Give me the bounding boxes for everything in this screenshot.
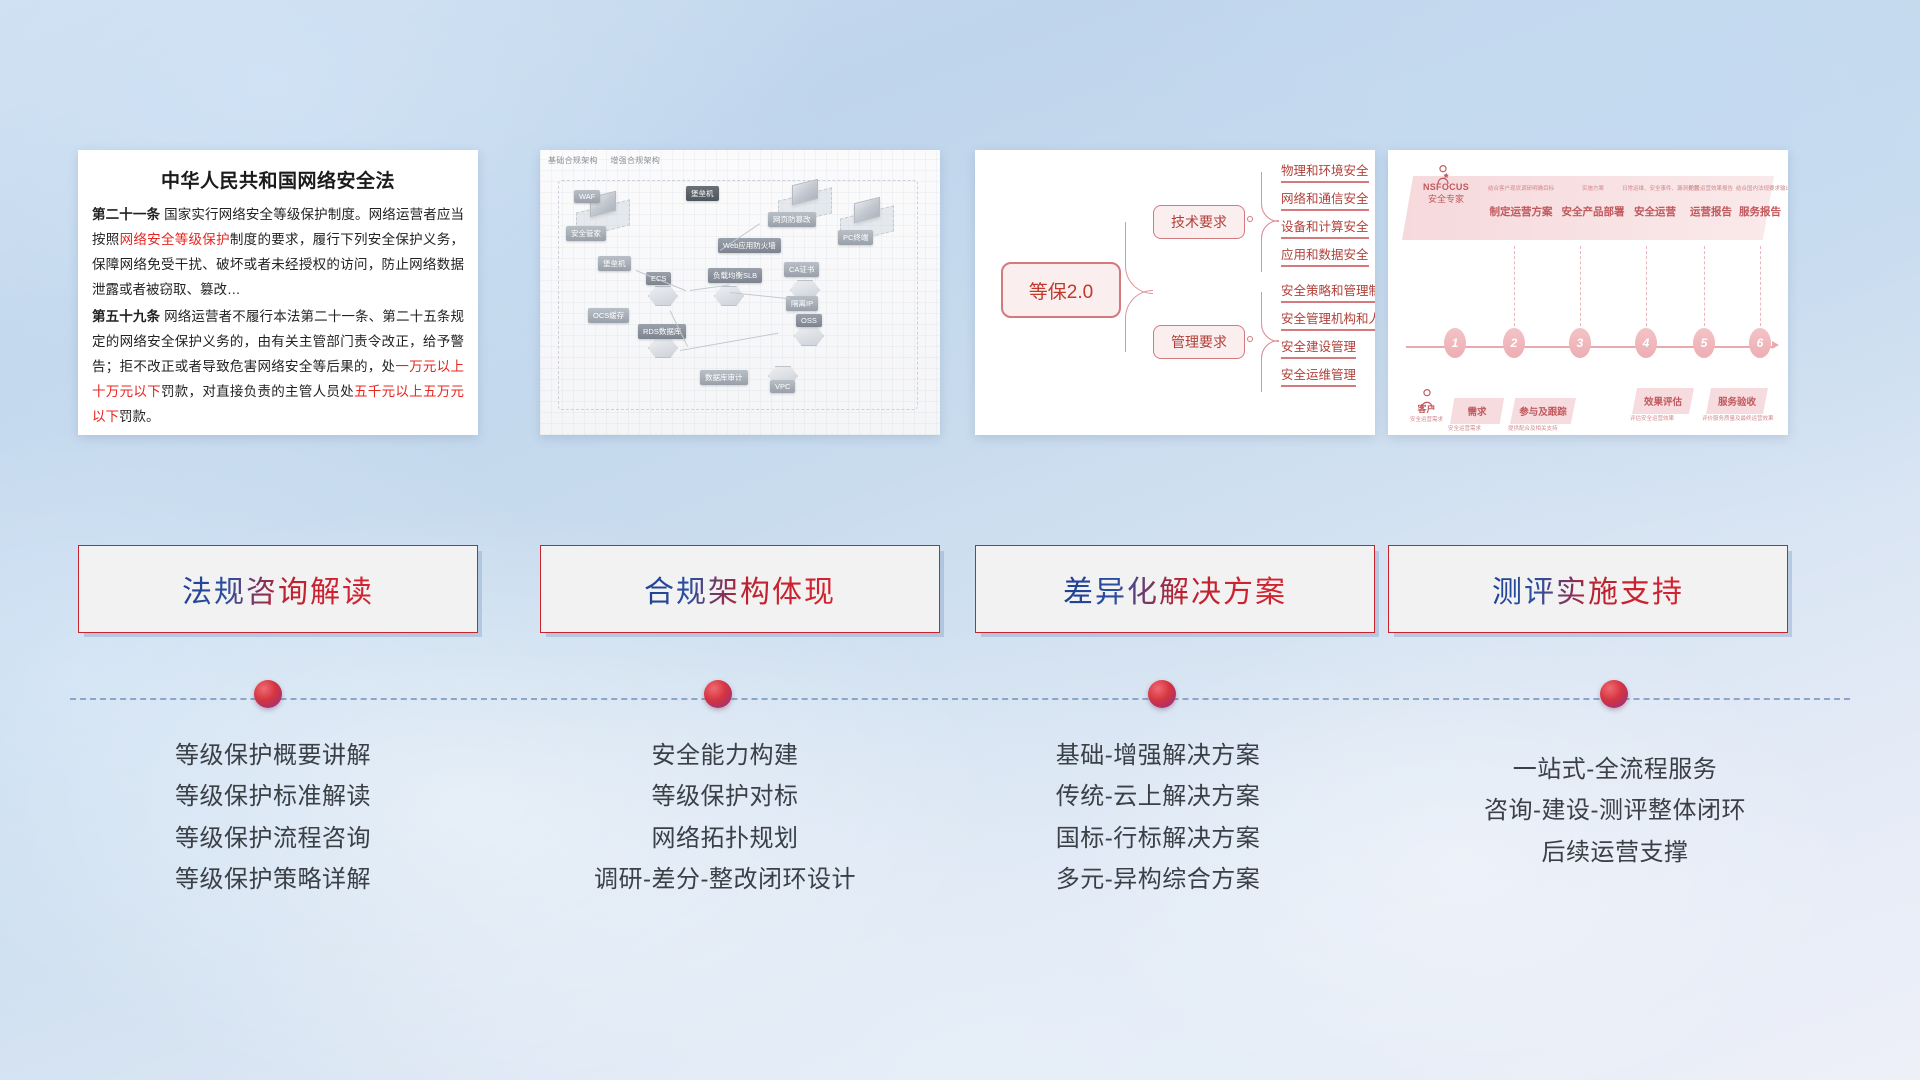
- mindmap-root-node: 等保2.0: [1001, 262, 1121, 318]
- arch-node-bastion-top: 堡垒机: [686, 186, 719, 201]
- arch-node-ca-certificate: CA证书: [784, 262, 819, 277]
- nsfocus-step-sub-2: 结合客户现状调研明确目标: [1484, 184, 1558, 192]
- law-article-59: 第五十九条 网络运营者不履行本法第二十一条、第二十五条规定的网络安全保护义务的，…: [92, 305, 464, 430]
- arch-node-security-manager: 安全管家: [566, 226, 606, 241]
- nsfocus-customer-title: 客户: [1410, 402, 1443, 415]
- nsfocus-step-bubble-2: 2: [1503, 328, 1525, 358]
- section-title-3: 差异化解决方案: [1063, 567, 1287, 611]
- nsfocus-brand-line1: NSFOCUS: [1414, 182, 1478, 192]
- section-title-box-1[interactable]: 法规咨询解读: [78, 545, 478, 633]
- nsfocus-dash-5: [1704, 246, 1705, 326]
- article-59-text-c: 罚款。: [119, 409, 160, 424]
- list-item: 国标-行标解决方案: [938, 818, 1378, 859]
- nsfocus-canvas: NSFOCUS 安全专家 结合客户现状调研明确目标 制定运营方案 实施方案 安全…: [1388, 150, 1788, 435]
- mindmap-leaf-tech-1: 物理和环境安全: [1281, 160, 1369, 183]
- nsfocus-step-sub-6: 结合国内法规要求输出整体运营效果: [1736, 184, 1784, 192]
- mindmap-leaf-mgmt-4: 安全运维管理: [1281, 364, 1356, 387]
- nsfocus-step-sub-5: 阶段运营效果报告: [1684, 184, 1738, 192]
- law-card-title: 中华人民共和国网络安全法: [92, 166, 464, 193]
- list-item: 等级保护策略详解: [53, 859, 493, 900]
- mindmap-leaf-mgmt-3: 安全建设管理: [1281, 336, 1356, 359]
- nsfocus-timeline-card: NSFOCUS 安全专家 结合客户现状调研明确目标 制定运营方案 实施方案 安全…: [1388, 150, 1788, 435]
- nsfocus-bottom-tag-sub-1: 安全运营需求: [1448, 424, 1481, 432]
- nsfocus-bottom-tag-sub-2: 提供配合及相关支持: [1508, 424, 1558, 432]
- article-59-text-b: 罚款，对直接负责的主管人员处: [161, 384, 354, 399]
- nsfocus-bottom-tag-4: 服务验收: [1706, 388, 1768, 414]
- law-card-body: 中华人民共和国网络安全法 第二十一条 国家实行网络安全等级保护制度。网络运营者应…: [78, 150, 478, 435]
- section-title-1: 法规咨询解读: [182, 567, 374, 611]
- nsfocus-customer-label: 客户 安全运营需求: [1410, 402, 1443, 423]
- arch-node-ocs-cache: OCS缓存: [588, 308, 629, 323]
- list-item: 网络拓扑规划: [505, 818, 945, 859]
- nsfocus-dash-2: [1514, 246, 1515, 326]
- list-item: 基础-增强解决方案: [938, 735, 1378, 776]
- nsfocus-step-bubble-5: 5: [1693, 328, 1715, 358]
- article-21-highlight: 网络安全等级保护: [120, 232, 230, 247]
- section-list-2: 安全能力构建 等级保护对标 网络拓扑规划 调研-差分-整改闭环设计: [505, 735, 945, 900]
- poster-canvas: 中华人民共和国网络安全法 第二十一条 国家实行网络安全等级保护制度。网络运营者应…: [0, 0, 1920, 1080]
- section-title-box-2[interactable]: 合规架构体现: [540, 545, 940, 633]
- arch-node-db-audit: 数据库审计: [700, 370, 748, 385]
- mindmap-collapse-dot-mgmt[interactable]: [1247, 336, 1253, 342]
- nsfocus-brand: NSFOCUS 安全专家: [1414, 182, 1478, 205]
- architecture-canvas: 基础合规架构 增强合规架构 堡垒机 网页防篡改 PC终端 WAF 安全管家: [540, 150, 940, 435]
- timeline-marker-3[interactable]: [1148, 680, 1176, 708]
- mindmap-collapse-dot-tech[interactable]: [1247, 216, 1253, 222]
- article-59-label: 第五十九条: [92, 309, 160, 324]
- mindmap-leaf-tech-3: 设备和计算安全: [1281, 216, 1369, 239]
- section-list-3: 基础-增强解决方案 传统-云上解决方案 国标-行标解决方案 多元-异构综合方案: [938, 735, 1378, 900]
- mindmap-branch-mgmt: 管理要求: [1153, 325, 1245, 359]
- law-article-21: 第二十一条 国家实行网络安全等级保护制度。网络运营者应当按照网络安全等级保护制度…: [92, 203, 464, 303]
- section-title-4: 测评实施支持: [1492, 567, 1684, 611]
- list-item: 等级保护标准解读: [53, 776, 493, 817]
- nsfocus-step-label-2: 结合客户现状调研明确目标 制定运营方案: [1484, 184, 1558, 219]
- nsfocus-bottom-tag-3: 效果评估: [1632, 388, 1694, 414]
- nsfocus-dash-4: [1646, 246, 1647, 326]
- nsfocus-step-sub-3: 实施方案: [1558, 184, 1628, 192]
- article-21-label: 第二十一条: [92, 207, 160, 222]
- arch-node-oss: OSS: [796, 314, 822, 327]
- list-item: 安全能力构建: [505, 735, 945, 776]
- mindmap-curve-tech-2: [1261, 200, 1279, 222]
- mindmap-card: 等保2.0 技术要求 物理和环境安全 网络和通信安全 设备和计算安全 应用和数据…: [975, 150, 1375, 435]
- arch-node-isolated-ip: 隔离IP: [786, 296, 818, 311]
- nsfocus-customer-sub: 安全运营需求: [1410, 415, 1443, 423]
- mindmap-curve-to-mgmt: [1125, 290, 1153, 352]
- nsfocus-step-label-4: 日常运维、安全事件、漏洞处置 安全运营: [1622, 184, 1688, 219]
- nsfocus-step-bubble-3: 3: [1569, 328, 1591, 358]
- nsfocus-step-label-3: 实施方案 安全产品部署: [1558, 184, 1628, 219]
- image-card-row: 中华人民共和国网络安全法 第二十一条 国家实行网络安全等级保护制度。网络运营者应…: [0, 150, 1920, 440]
- arch-node-bastion-left: 堡垒机: [598, 256, 631, 271]
- mindmap-canvas: 等保2.0 技术要求 物理和环境安全 网络和通信安全 设备和计算安全 应用和数据…: [975, 150, 1375, 435]
- mindmap-leaf-mgmt-1: 安全策略和管理制度: [1281, 280, 1375, 303]
- section-list-4: 一站式-全流程服务 咨询-建设-测评整体闭环 后续运营支撑: [1395, 735, 1835, 873]
- arch-node-waf: WAF: [574, 190, 600, 203]
- section-title-box-3[interactable]: 差异化解决方案: [975, 545, 1375, 633]
- list-item: 传统-云上解决方案: [938, 776, 1378, 817]
- nsfocus-bottom-tag-1: 需求: [1450, 398, 1504, 424]
- list-item: 咨询-建设-测评整体闭环: [1395, 790, 1835, 831]
- architecture-tabs: 基础合规架构 增强合规架构: [548, 155, 670, 166]
- arch-node-pc-terminal: PC终端: [838, 230, 873, 245]
- mindmap-leaf-tech-2: 网络和通信安全: [1281, 188, 1369, 211]
- section-item-lists: 等级保护概要讲解 等级保护标准解读 等级保护流程咨询 等级保护策略详解 安全能力…: [0, 735, 1920, 1035]
- list-item: 一站式-全流程服务: [1395, 749, 1835, 790]
- mindmap-curve-to-tech: [1125, 222, 1153, 294]
- mindmap-branch-tech: 技术要求: [1153, 205, 1245, 239]
- nsfocus-step-sub-4: 日常运维、安全事件、漏洞处置: [1622, 184, 1688, 192]
- nsfocus-dash-3: [1580, 246, 1581, 326]
- nsfocus-dash-6: [1760, 246, 1761, 326]
- mindmap-curve-mgmt-4: [1261, 340, 1279, 392]
- timeline-dashed-line: [70, 698, 1850, 700]
- timeline-marker-2[interactable]: [704, 680, 732, 708]
- arch-node-tamperproof: 网页防篡改: [768, 212, 816, 227]
- list-item: 后续运营支撑: [1395, 832, 1835, 873]
- nsfocus-step-bubble-4: 4: [1635, 328, 1657, 358]
- timeline-marker-1[interactable]: [254, 680, 282, 708]
- list-item: 等级保护对标: [505, 776, 945, 817]
- section-list-1: 等级保护概要讲解 等级保护标准解读 等级保护流程咨询 等级保护策略详解: [53, 735, 493, 900]
- tab-enhanced-architecture: 增强合规架构: [610, 156, 660, 165]
- nsfocus-brand-line2: 安全专家: [1414, 192, 1478, 205]
- nsfocus-step-title-2: 制定运营方案: [1484, 204, 1558, 219]
- tab-basic-architecture: 基础合规架构: [548, 156, 598, 165]
- nsfocus-bottom-tag-sub-3: 评估安全运营效果: [1630, 414, 1674, 422]
- nsfocus-step-title-3: 安全产品部署: [1558, 204, 1628, 219]
- section-title-row: 法规咨询解读 合规架构体现 差异化解决方案 测评实施支持: [0, 545, 1920, 637]
- nsfocus-timeline-arrow: [1772, 341, 1779, 349]
- timeline-marker-4[interactable]: [1600, 680, 1628, 708]
- list-item: 等级保护概要讲解: [53, 735, 493, 776]
- section-title-2: 合规架构体现: [644, 567, 836, 611]
- mindmap-leaf-tech-4: 应用和数据安全: [1281, 244, 1369, 267]
- mindmap-curve-tech-4: [1261, 220, 1279, 272]
- section-title-box-4[interactable]: 测评实施支持: [1388, 545, 1788, 633]
- nsfocus-step-title-5: 运营报告: [1684, 204, 1738, 219]
- nsfocus-bottom-tag-sub-4: 评价服务质量及最终运营效果: [1702, 414, 1774, 422]
- nsfocus-bottom-tag-2: 参与及跟踪: [1510, 398, 1576, 424]
- list-item: 多元-异构综合方案: [938, 859, 1378, 900]
- mindmap-curve-mgmt-2: [1261, 320, 1279, 342]
- nsfocus-step-label-6: 结合国内法规要求输出整体运营效果 服务报告: [1736, 184, 1784, 219]
- list-item: 调研-差分-整改闭环设计: [505, 859, 945, 900]
- nsfocus-step-bubble-1: 1: [1444, 328, 1466, 358]
- architecture-diagram-card: 基础合规架构 增强合规架构 堡垒机 网页防篡改 PC终端 WAF 安全管家: [540, 150, 940, 435]
- nsfocus-step-title-4: 安全运营: [1622, 204, 1688, 219]
- list-item: 等级保护流程咨询: [53, 818, 493, 859]
- arch-node-slb: 负载均衡SLB: [708, 268, 762, 283]
- nsfocus-step-title-6: 服务报告: [1736, 204, 1784, 219]
- mindmap-leaf-mgmt-2: 安全管理机构和人员: [1281, 308, 1375, 331]
- law-text-card: 中华人民共和国网络安全法 第二十一条 国家实行网络安全等级保护制度。网络运营者应…: [78, 150, 478, 435]
- nsfocus-step-bubble-6: 6: [1749, 328, 1771, 358]
- nsfocus-step-label-5: 阶段运营效果报告 运营报告: [1684, 184, 1738, 219]
- timeline-row: [0, 690, 1920, 720]
- arch-node-vpc: VPC: [770, 380, 795, 393]
